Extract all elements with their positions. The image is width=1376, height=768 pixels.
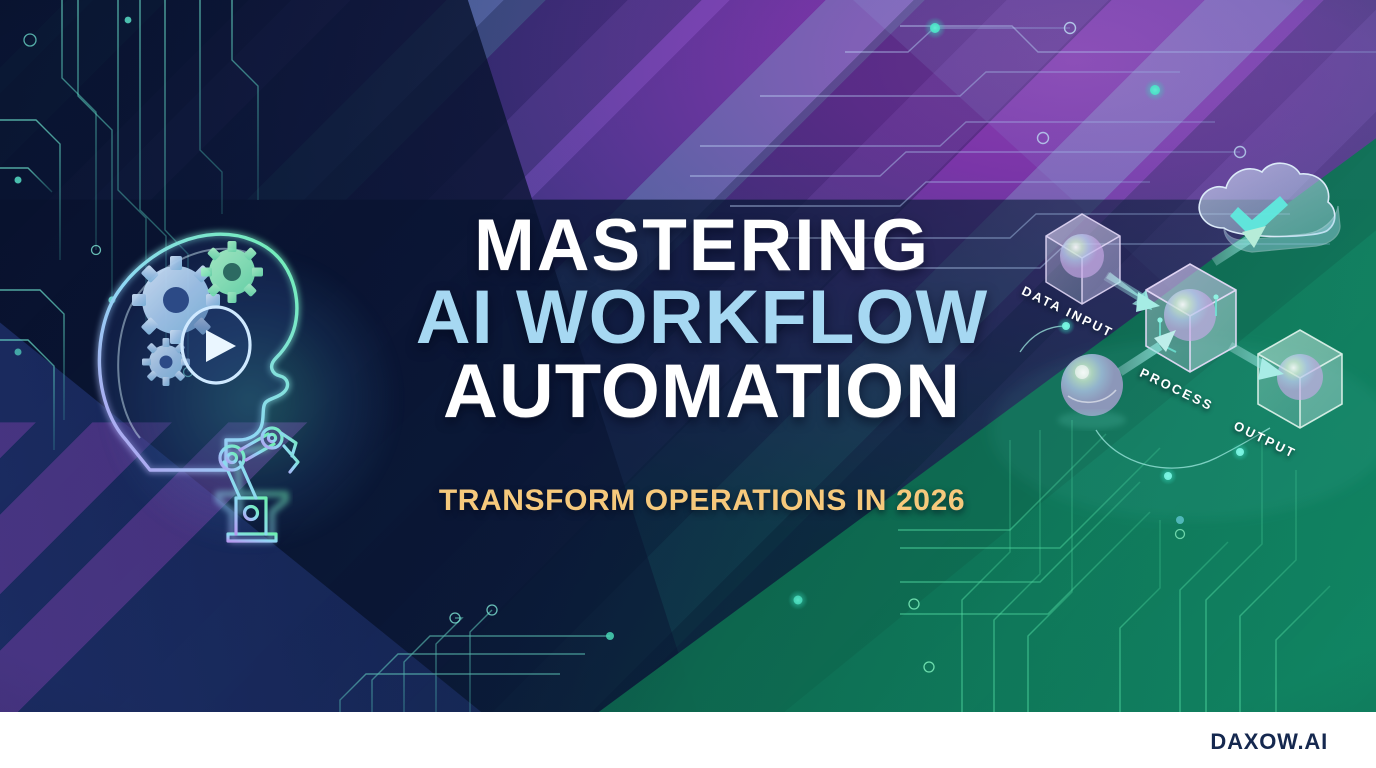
poster-canvas: DATA INPUT PROCESS OUTPUT MASTERING AI W…	[0, 0, 1376, 768]
headline-line-2: AI WORKFLOW	[372, 283, 1032, 353]
headline-line-3: AUTOMATION	[372, 357, 1032, 427]
subtitle: TRANSFORM OPERATIONS IN 2026	[372, 484, 1032, 518]
headline-block: MASTERING AI WORKFLOW AUTOMATION	[372, 212, 1032, 427]
headline-line-1: MASTERING	[372, 212, 1032, 279]
footer-bar: DAXOW.AI	[0, 712, 1376, 768]
brand-logo: DAXOW.AI	[1210, 729, 1328, 755]
